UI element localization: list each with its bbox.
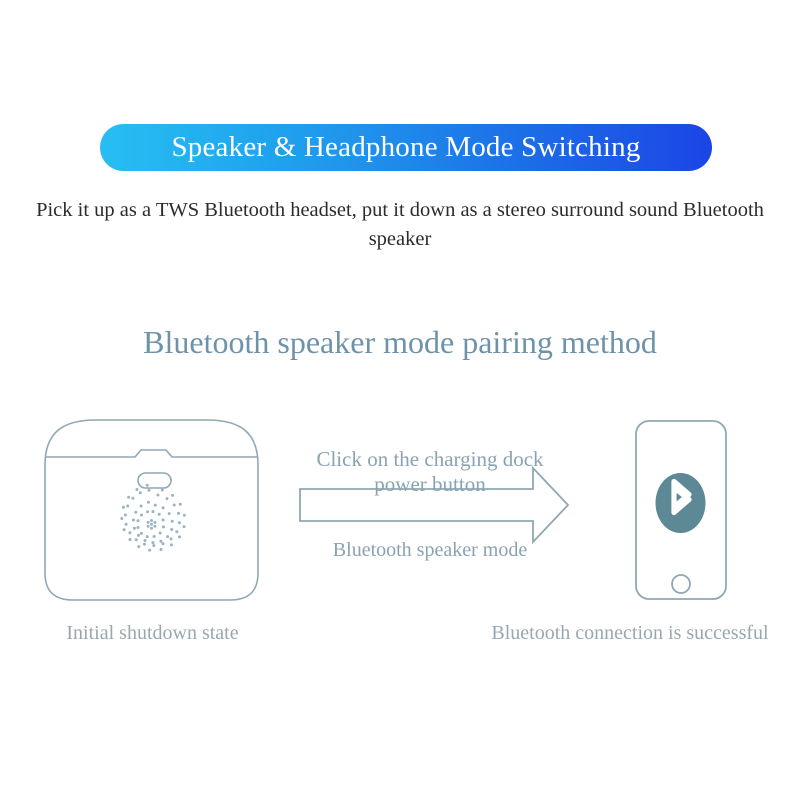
case-speaker-grille [120,484,186,552]
phone-home-button[interactable] [672,575,690,593]
title-banner: Speaker & Headphone Mode Switching [100,124,712,171]
caption-left-device: Initial shutdown state [45,620,260,646]
charging-case-illustration [45,420,258,600]
caption-right-device: Bluetooth connection is successful [460,620,800,646]
subtitle-text: Pick it up as a TWS Bluetooth headset, p… [20,196,780,254]
section-heading: Bluetooth speaker mode pairing method [0,322,800,362]
case-power-button[interactable] [138,473,171,488]
pairing-diagram [0,395,800,655]
page-root: Speaker & Headphone Mode Switching Pick … [0,0,800,800]
arrow-label-bottom: Bluetooth speaker mode [290,538,570,563]
arrow-label-top: Click on the charging dock power button [290,447,570,497]
bluetooth-icon [656,473,706,533]
banner-title: Speaker & Headphone Mode Switching [171,133,640,162]
case-lid-seam [46,450,257,457]
case-body-outline [45,420,258,600]
